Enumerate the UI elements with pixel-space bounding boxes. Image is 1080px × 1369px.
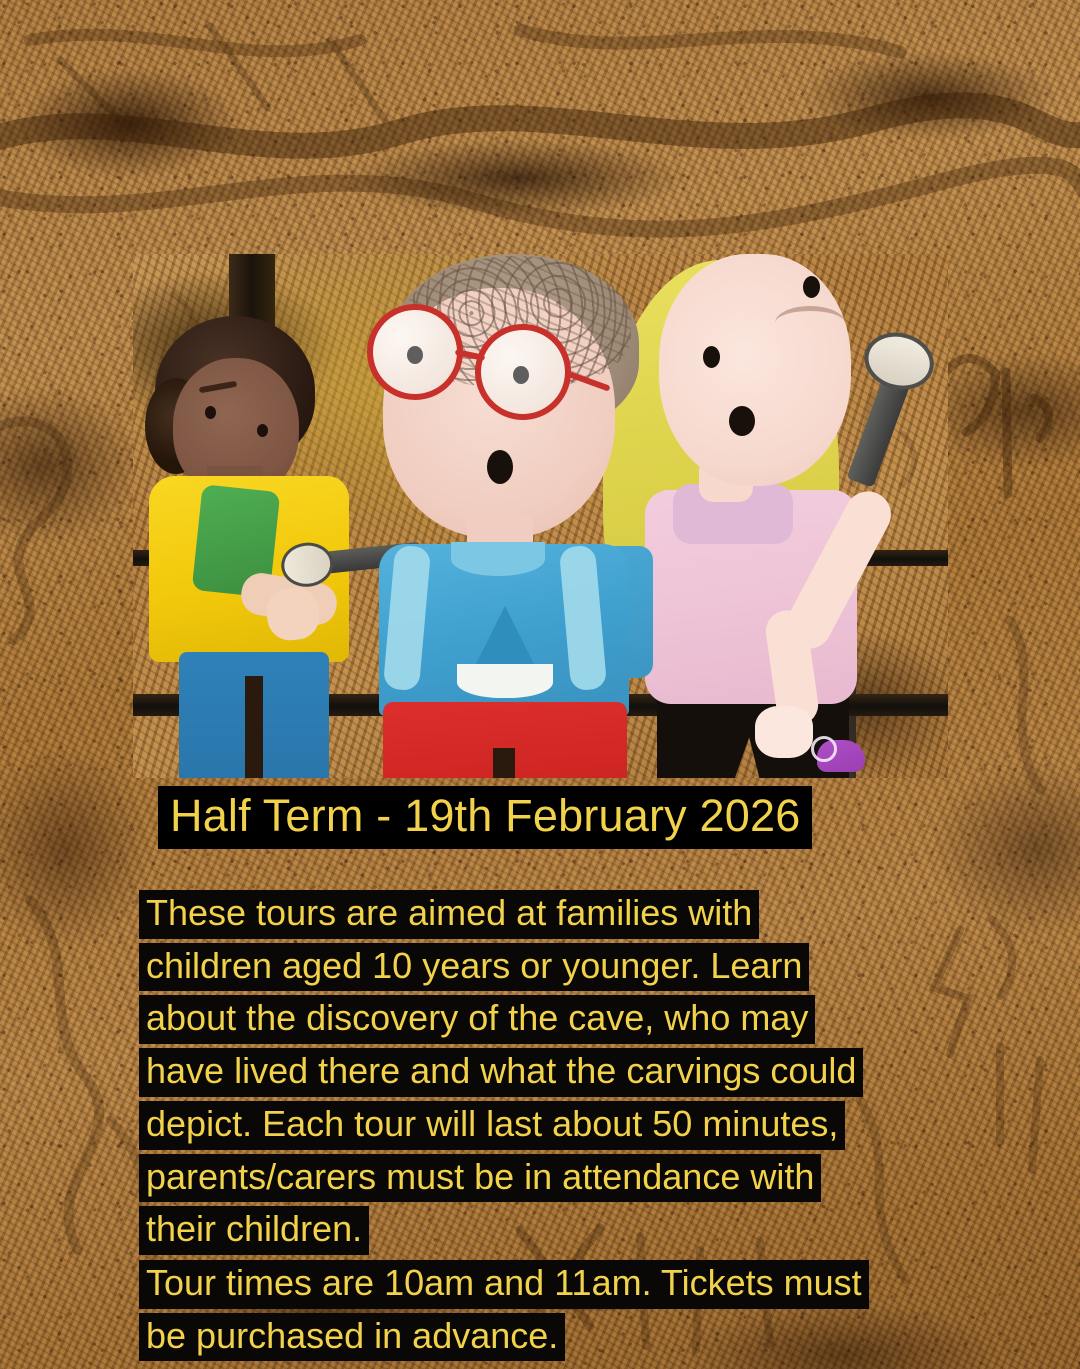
sailboat-hull-icon: [457, 664, 553, 698]
torch-right-handle: [846, 373, 911, 488]
child-middle-shorts: [383, 702, 627, 778]
child-middle-eye-2: [513, 366, 529, 384]
torch-left-lens: [279, 540, 335, 589]
body-line: about the discovery of the cave, who may: [139, 995, 815, 1044]
cave-tour-illustration: [133, 254, 948, 778]
body-line: depict. Each tour will last about 50 min…: [139, 1101, 845, 1150]
child-right-brow: [775, 306, 845, 340]
child-left-eye-1: [205, 406, 216, 419]
body-line: be purchased in advance.: [139, 1313, 565, 1362]
body-line: children aged 10 years or younger. Learn: [139, 943, 809, 992]
child-right-face: [659, 254, 851, 486]
child-left-trousers: [179, 652, 329, 778]
body-line: their children.: [139, 1206, 369, 1255]
child-right-mouth: [729, 406, 755, 436]
child-middle-glasses-temple: [565, 370, 610, 391]
child-left-eye-2: [257, 424, 268, 437]
body-line: have lived there and what the carvings c…: [139, 1048, 863, 1097]
glasses-icon: [367, 300, 617, 420]
body-line: These tours are aimed at families with: [139, 890, 759, 939]
poster-body-copy: These tours are aimed at families with c…: [139, 890, 969, 1365]
child-right-eye-1: [703, 346, 720, 368]
poster-headline: Half Term - 19th February 2026: [158, 786, 812, 849]
sailboat-sail-icon: [475, 606, 535, 666]
child-right-hand: [755, 706, 813, 758]
child-middle-eye-1: [407, 346, 423, 364]
child-middle-collar: [451, 542, 545, 576]
body-line: Tour times are 10am and 11am. Tickets mu…: [139, 1260, 869, 1309]
body-line: parents/carers must be in attendance wit…: [139, 1154, 821, 1203]
child-left-eyebrow: [199, 381, 237, 394]
child-right-shoe-lace: [811, 736, 837, 762]
child-middle-mouth: [487, 450, 513, 484]
child-middle-figure: [359, 254, 649, 778]
child-right-eye-2: [803, 276, 820, 298]
